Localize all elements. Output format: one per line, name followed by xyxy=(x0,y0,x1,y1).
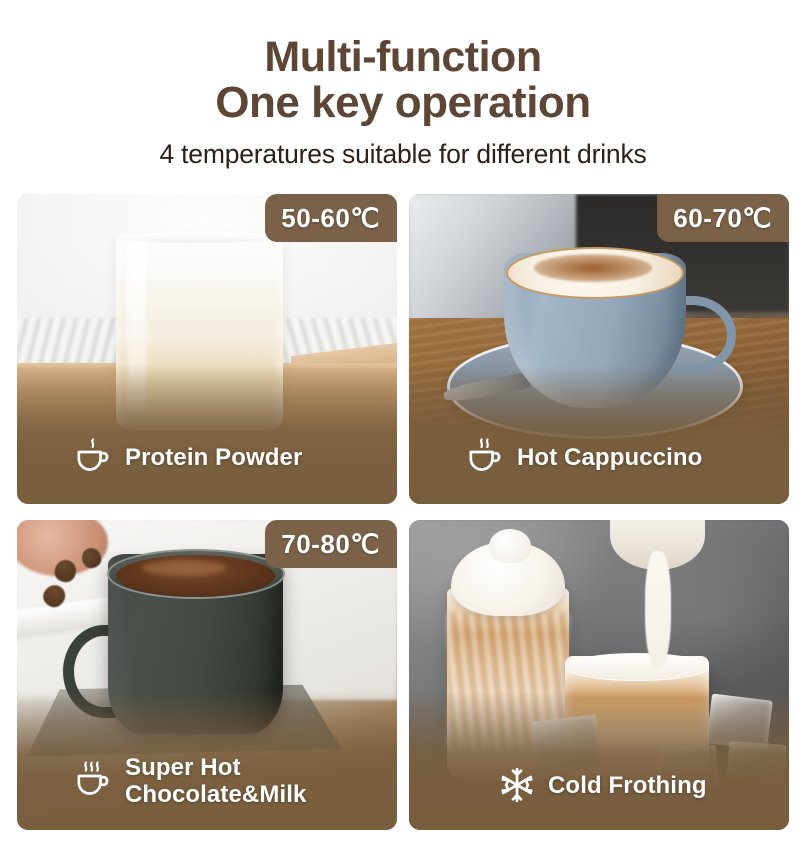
product-feature-panel: Multi-function One key operation 4 tempe… xyxy=(0,0,806,850)
temperature-badge-super-hot-chocolate-milk: 70-80℃ xyxy=(265,520,397,568)
header: Multi-function One key operation 4 tempe… xyxy=(0,0,806,169)
whipped-cream-peak xyxy=(489,529,531,563)
page-title-line-2: One key operation xyxy=(0,80,806,126)
page-title-line-1: Multi-function xyxy=(0,34,806,80)
card-label-super-hot-chocolate-milk: Super Hot Chocolate&Milk xyxy=(73,754,306,808)
cup-steam-three-icon xyxy=(73,760,113,802)
bottom-gradient-overlay xyxy=(17,365,397,505)
chocolate-highlight xyxy=(142,560,226,576)
card-label-hot-cappuccino: Hot Cappuccino xyxy=(465,436,702,478)
temperature-badge-hot-cappuccino: 60-70℃ xyxy=(657,194,789,242)
feature-card-hot-cappuccino[interactable]: 60-70℃ Hot Cappuccino xyxy=(409,194,789,504)
card-label-text: Hot Cappuccino xyxy=(517,444,702,471)
card-label-text: Super Hot Chocolate&Milk xyxy=(125,754,306,808)
temperature-value: 60-70℃ xyxy=(673,203,772,234)
pouring-foam-stream xyxy=(645,551,672,669)
bottom-gradient-overlay xyxy=(409,691,789,831)
feature-card-cold-frothing[interactable]: Cold Frothing xyxy=(409,520,789,830)
cup-steam-two-icon xyxy=(465,436,505,478)
card-label-text: Protein Powder xyxy=(125,444,302,471)
cup-steam-one-icon xyxy=(73,436,113,478)
cold-foam-layer xyxy=(565,653,709,681)
card-label-cold-frothing: Cold Frothing xyxy=(498,766,707,804)
bottom-gradient-overlay xyxy=(409,365,789,505)
feature-card-grid: 50-60℃ Protein Powder xyxy=(17,194,789,840)
feature-card-super-hot-chocolate-milk[interactable]: 70-80℃ Super Hot Chocolate&Milk xyxy=(17,520,397,830)
temperature-value: 70-80℃ xyxy=(281,529,380,560)
temperature-badge-protein-powder: 50-60℃ xyxy=(265,194,397,242)
snowflake-icon xyxy=(498,766,536,804)
page-subtitle: 4 temperatures suitable for different dr… xyxy=(0,139,806,169)
card-label-protein-powder: Protein Powder xyxy=(73,436,302,478)
card-label-text: Cold Frothing xyxy=(548,772,707,799)
feature-card-protein-powder[interactable]: 50-60℃ Protein Powder xyxy=(17,194,397,504)
temperature-value: 50-60℃ xyxy=(281,203,380,234)
